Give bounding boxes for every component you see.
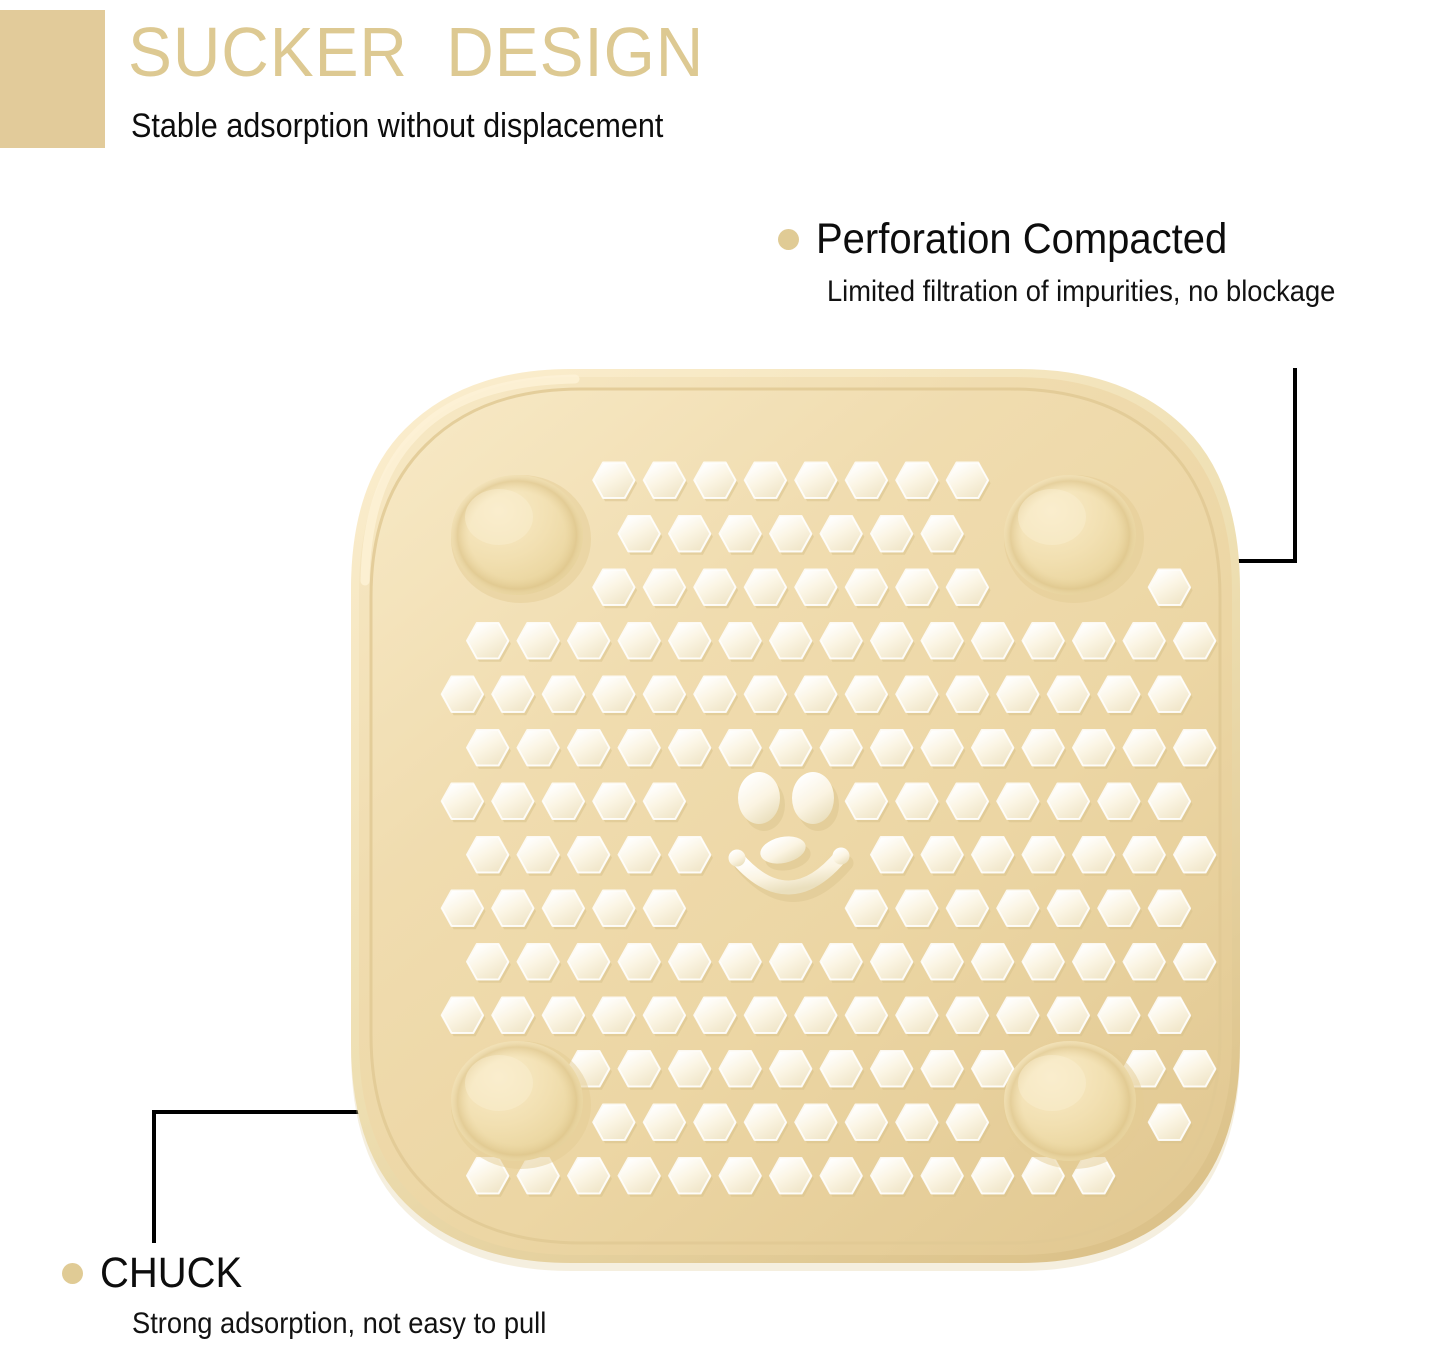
callout-chuck-subtitle: Strong adsorption, not easy to pull (132, 1304, 546, 1344)
sucker-bottom-right (1004, 1041, 1144, 1169)
face-right-eye (792, 772, 834, 824)
callout-perforation: Perforation Compacted Limited filtration… (778, 213, 1386, 312)
sucker-top-left (451, 475, 591, 603)
sucker-top-right (1004, 475, 1144, 603)
callout-perforation-head: Perforation Compacted (778, 213, 1386, 265)
bullet-dot-icon (62, 1263, 83, 1284)
product-svg (343, 361, 1248, 1271)
callout-perforation-title: Perforation Compacted (816, 213, 1227, 265)
page-title: SUCKER DESIGN (128, 8, 704, 96)
callout-chuck-title: CHUCK (100, 1247, 242, 1299)
sucker-bottom-left (451, 1041, 591, 1169)
page-subtitle: Stable adsorption without displacement (131, 104, 663, 148)
leader-line-perforation-vertical (1293, 368, 1297, 563)
product-image-silicone-drain-mat (343, 361, 1248, 1271)
callout-perforation-subtitle: Limited filtration of impurities, no blo… (827, 272, 1335, 312)
header-accent-band (0, 10, 105, 148)
leader-line-chuck-vertical (152, 1110, 156, 1243)
face-left-eye (738, 772, 780, 824)
bullet-dot-icon (778, 229, 799, 250)
